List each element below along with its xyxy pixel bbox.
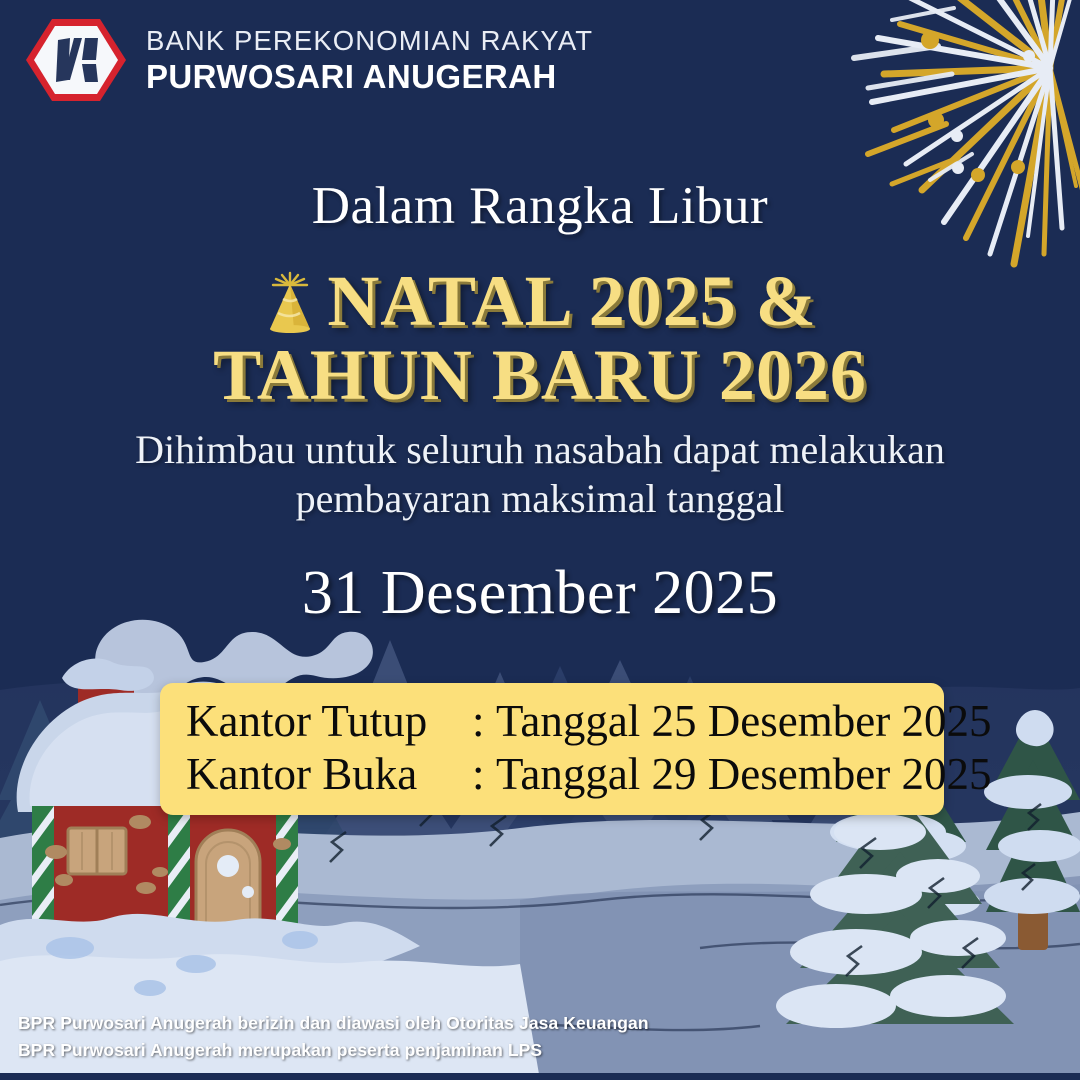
brand-line-2: PURWOSARI ANUGERAH xyxy=(146,60,593,93)
footer-line-1: BPR Purwosari Anugerah berizin dan diawa… xyxy=(18,1010,649,1037)
footer-disclaimer: BPR Purwosari Anugerah berizin dan diawa… xyxy=(18,1010,649,1064)
brand-line-1: BANK PEREKONOMIAN RAKYAT xyxy=(146,27,593,55)
schedule-row-closed: Kantor Tutup : Tanggal 25 Desember 2025 xyxy=(186,695,918,748)
schedule-value-closed: Tanggal 25 Desember 2025 xyxy=(496,695,991,748)
pine-tree-front xyxy=(776,792,1014,1028)
schedule-separator-closed: : xyxy=(472,695,496,748)
brand-header: BANK PEREKONOMIAN RAKYAT PURWOSARI ANUGE… xyxy=(22,14,593,106)
bottom-rule xyxy=(0,1073,1080,1080)
schedule-card: Kantor Tutup : Tanggal 25 Desember 2025 … xyxy=(160,683,944,815)
deadline-date: 31 Desember 2025 xyxy=(0,558,1080,629)
schedule-value-open: Tanggal 29 Desember 2025 xyxy=(496,748,991,801)
schedule-label-closed: Kantor Tutup xyxy=(186,695,472,748)
gold-title-line-2: TAHUN BARU 2026 xyxy=(0,338,1080,412)
pine-tree-right xyxy=(984,710,1080,950)
bank-hexagon-logo-icon xyxy=(22,14,130,106)
body-copy: Dihimbau untuk seluruh nasabah dapat mel… xyxy=(0,426,1080,524)
schedule-separator-open: : xyxy=(472,748,496,801)
holiday-announcement-poster: BANK PEREKONOMIAN RAKYAT PURWOSARI ANUGE… xyxy=(0,0,1080,1080)
gold-title-line-1: NATAL 2025 & xyxy=(0,264,1080,338)
kicker-text: Dalam Rangka Libur xyxy=(0,176,1080,236)
party-hat-icon xyxy=(263,271,317,333)
party-hat-tassel xyxy=(273,273,307,285)
body-copy-line-1: Dihimbau untuk seluruh nasabah dapat mel… xyxy=(0,426,1080,475)
schedule-label-open: Kantor Buka xyxy=(186,748,472,801)
body-copy-line-2: pembayaran maksimal tanggal xyxy=(0,475,1080,524)
gold-title-text-1: NATAL 2025 & xyxy=(327,261,816,341)
headline-block: Dalam Rangka Libur NATAL 202 xyxy=(0,176,1080,629)
gold-title: NATAL 2025 & TAHUN BARU 2026 xyxy=(0,264,1080,412)
schedule-row-open: Kantor Buka : Tanggal 29 Desember 2025 xyxy=(186,748,918,801)
footer-line-2: BPR Purwosari Anugerah merupakan peserta… xyxy=(18,1037,649,1064)
